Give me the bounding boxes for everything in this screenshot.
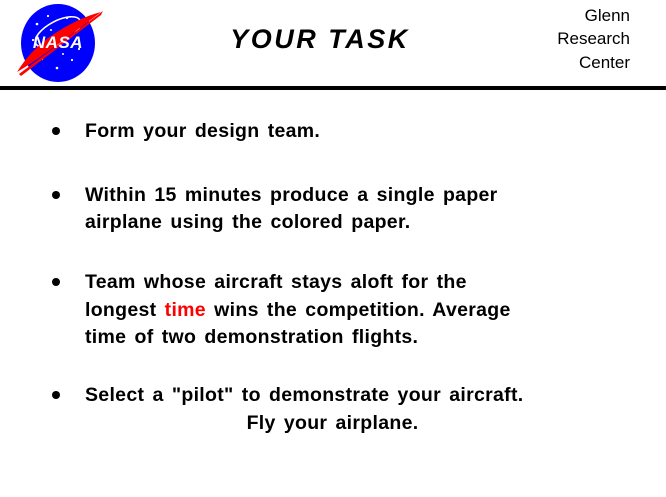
slide-body: Form your design team. Within 15 minutes… [0, 118, 666, 438]
list-item: Form your design team. [0, 118, 666, 146]
list-item-text: Within 15 minutes produce a single paper… [85, 182, 666, 237]
bullet-dot-icon [52, 278, 60, 286]
organization-line-1: Glenn [557, 4, 630, 27]
organization-line-2: Research [557, 27, 630, 50]
list-item-line-part: wins the competition. Average [206, 299, 511, 321]
list-item-line: Fly your airplane. [85, 410, 666, 438]
slide-header: NASA YOUR TASK Glenn Research Center [0, 0, 666, 88]
bullet-dot-icon [52, 191, 60, 199]
header-divider [0, 86, 666, 90]
nasa-meatball-logo-icon: NASA [15, 2, 107, 84]
list-item: Within 15 minutes produce a single paper… [0, 182, 666, 237]
page-title: YOUR TASK [120, 24, 520, 55]
svg-text:NASA: NASA [33, 33, 83, 52]
list-item-line: Form your design team. [85, 118, 666, 146]
list-item: Select a "pilot" to demonstrate your air… [0, 382, 666, 437]
slide-canvas: NASA YOUR TASK Glenn Research Center For… [0, 0, 666, 497]
list-item-line: longest time wins the competition. Avera… [85, 297, 666, 325]
list-item-line-part: longest [85, 299, 165, 321]
list-item-line: time of two demonstration flights. [85, 324, 666, 352]
list-item-line: airplane using the colored paper. [85, 209, 666, 237]
bullet-dot-icon [52, 391, 60, 399]
organization-line-3: Center [557, 51, 630, 74]
list-item-text: Select a "pilot" to demonstrate your air… [85, 382, 666, 437]
list-item-line: Team whose aircraft stays aloft for the [85, 269, 666, 297]
list-item: Team whose aircraft stays aloft for the … [0, 269, 666, 352]
list-item-text: Form your design team. [85, 118, 666, 146]
list-item-text: Team whose aircraft stays aloft for the … [85, 269, 666, 352]
list-item-line: Select a "pilot" to demonstrate your air… [85, 382, 666, 410]
highlighted-word: time [165, 299, 206, 321]
list-item-line: Within 15 minutes produce a single paper [85, 182, 666, 210]
bullet-dot-icon [52, 127, 60, 135]
organization-name: Glenn Research Center [557, 4, 630, 74]
